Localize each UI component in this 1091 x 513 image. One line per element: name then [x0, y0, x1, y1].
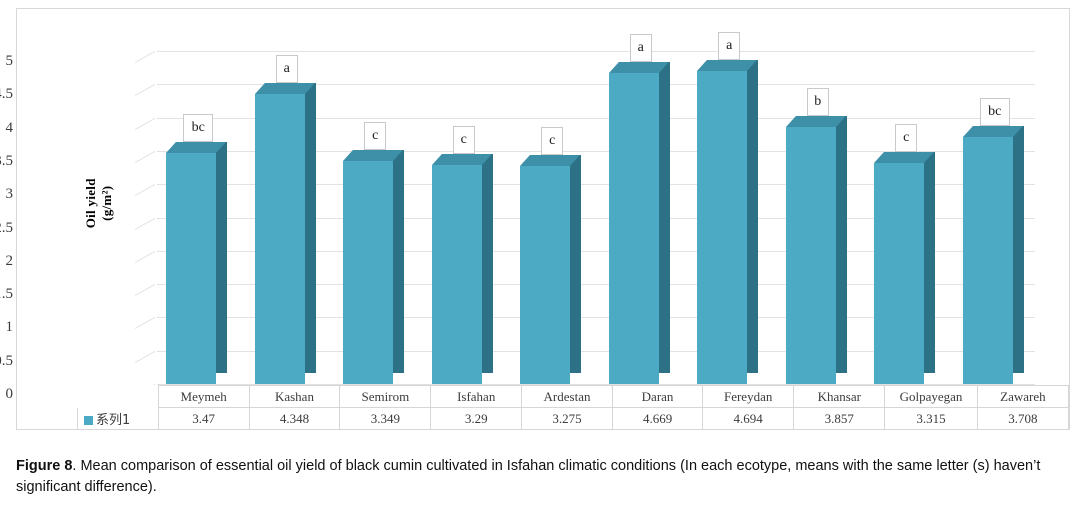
bar-side-face [747, 60, 758, 373]
table-category-cell: Khansar [794, 386, 885, 408]
table-value-cell: 4.694 [703, 408, 794, 430]
y-axis-tick-label: 0.5 [0, 354, 13, 369]
table-category-cell: Isfahan [431, 386, 521, 408]
y-axis-tick-label: 2 [0, 254, 13, 269]
bar-top-face [963, 126, 1023, 137]
y-axis-tick-label: 1 [0, 320, 13, 335]
significance-label: b [807, 88, 829, 116]
y-axis-tick-label: 4.5 [0, 87, 13, 102]
bar-side-face [836, 116, 847, 373]
y-axis-title-line1: Oil yield [83, 143, 99, 263]
y-axis-tick-label: 0 [0, 387, 13, 402]
bar-top-face [609, 62, 669, 73]
bar [786, 127, 836, 384]
gridline-depth-edge [135, 284, 156, 296]
y-axis-tick-label: 5 [0, 54, 13, 69]
bar-top-face [874, 152, 934, 163]
table-category-cell: Fereydan [703, 386, 794, 408]
bar-front-face [255, 94, 305, 384]
bar-front-face [343, 161, 393, 384]
y-axis-tick-label: 4 [0, 121, 13, 136]
bar-side-face [216, 142, 227, 373]
bar-top-face [255, 83, 315, 94]
legend-series-label: 系列1 [96, 413, 130, 428]
gridline-depth-edge [135, 51, 156, 63]
table-row-categories: MeymehKashanSemiromIsfahanArdestanDaranF… [78, 386, 1069, 408]
gridline-depth-edge [135, 118, 156, 130]
bar [520, 166, 570, 384]
bar [166, 153, 216, 384]
table-row-values: 系列1 3.474.3483.3493.293.2754.6694.6943.8… [78, 408, 1069, 430]
significance-label: a [630, 34, 652, 62]
bar [697, 71, 747, 384]
gridline-depth-edge [135, 317, 156, 329]
table-category-cell: Semirom [340, 386, 431, 408]
bar-top-face [343, 150, 403, 161]
gridline-depth-edge [135, 184, 156, 196]
significance-label: bc [183, 114, 213, 142]
bar-side-face [393, 150, 404, 373]
gridline-depth-edge [135, 351, 156, 363]
table-category-cell: Meymeh [158, 386, 249, 408]
bar-front-face [166, 153, 216, 384]
bar [609, 73, 659, 384]
figure-caption: Figure 8. Mean comparison of essential o… [16, 456, 1074, 498]
significance-label: c [895, 124, 917, 152]
bar-side-face [305, 83, 316, 373]
table-value-cell: 3.315 [885, 408, 978, 430]
figure-caption-text: . Mean comparison of essential oil yield… [16, 458, 1040, 495]
bar-top-face [432, 154, 492, 165]
y-axis-tick-label: 3 [0, 187, 13, 202]
bar-side-face [1013, 126, 1024, 373]
bar-side-face [924, 152, 935, 373]
bar [255, 94, 305, 384]
bar [963, 137, 1013, 384]
table-value-cell: 3.857 [794, 408, 885, 430]
y-axis-title: Oil yield (g/m²) [83, 143, 116, 263]
bar-top-face [166, 142, 226, 153]
y-axis-tick-label: 3.5 [0, 154, 13, 169]
table-value-cell: 3.29 [431, 408, 521, 430]
bar [874, 163, 924, 384]
bar-top-face [786, 116, 846, 127]
significance-label: a [276, 55, 298, 83]
table-value-cell: 3.349 [340, 408, 431, 430]
gridline-depth-edge [135, 217, 156, 229]
bar-top-face [520, 155, 580, 166]
legend-key: 系列1 [78, 408, 159, 430]
table-category-cell: Daran [613, 386, 703, 408]
y-axis-tick-label: 1.5 [0, 287, 13, 302]
chart-frame: Oil yield (g/m²) 54.543.532.521.510.50 b… [16, 8, 1070, 430]
significance-label: a [718, 32, 740, 60]
bar-front-face [697, 71, 747, 384]
bar-front-face [520, 166, 570, 384]
bar-front-face [963, 137, 1013, 384]
table-value-cell: 4.348 [249, 408, 340, 430]
table-category-cell: Golpayegan [885, 386, 978, 408]
gridline [157, 51, 1035, 52]
bar [432, 165, 482, 384]
plot-area: 54.543.532.521.510.50 bcacccaabcbc [135, 29, 1035, 394]
bar-side-face [570, 155, 581, 373]
gridline-depth-edge [135, 151, 156, 163]
significance-label: bc [980, 98, 1010, 126]
bar-front-face [609, 73, 659, 384]
table-category-cell: Zawareh [977, 386, 1068, 408]
bar-front-face [432, 165, 482, 384]
y-axis-title-line2: (g/m²) [99, 143, 115, 263]
y-axis-tick-label: 2.5 [0, 221, 13, 236]
data-table: MeymehKashanSemiromIsfahanArdestanDaranF… [77, 385, 1069, 430]
bar-side-face [482, 154, 493, 373]
significance-label: c [364, 122, 386, 150]
bar [343, 161, 393, 384]
significance-label: c [453, 126, 475, 154]
table-value-cell: 4.669 [613, 408, 703, 430]
table-value-cell: 3.47 [158, 408, 249, 430]
figure-caption-label: Figure 8 [16, 458, 72, 474]
table-corner-cell [78, 386, 159, 408]
legend-swatch-icon [84, 416, 93, 425]
bar-front-face [786, 127, 836, 384]
table-value-cell: 3.275 [521, 408, 612, 430]
table-value-cell: 3.708 [977, 408, 1068, 430]
bar-side-face [659, 62, 670, 373]
table-category-cell: Ardestan [521, 386, 612, 408]
bar-front-face [874, 163, 924, 384]
gridline-depth-edge [135, 84, 156, 96]
table-category-cell: Kashan [249, 386, 340, 408]
significance-label: c [541, 127, 563, 155]
gridline-depth-edge [135, 251, 156, 263]
